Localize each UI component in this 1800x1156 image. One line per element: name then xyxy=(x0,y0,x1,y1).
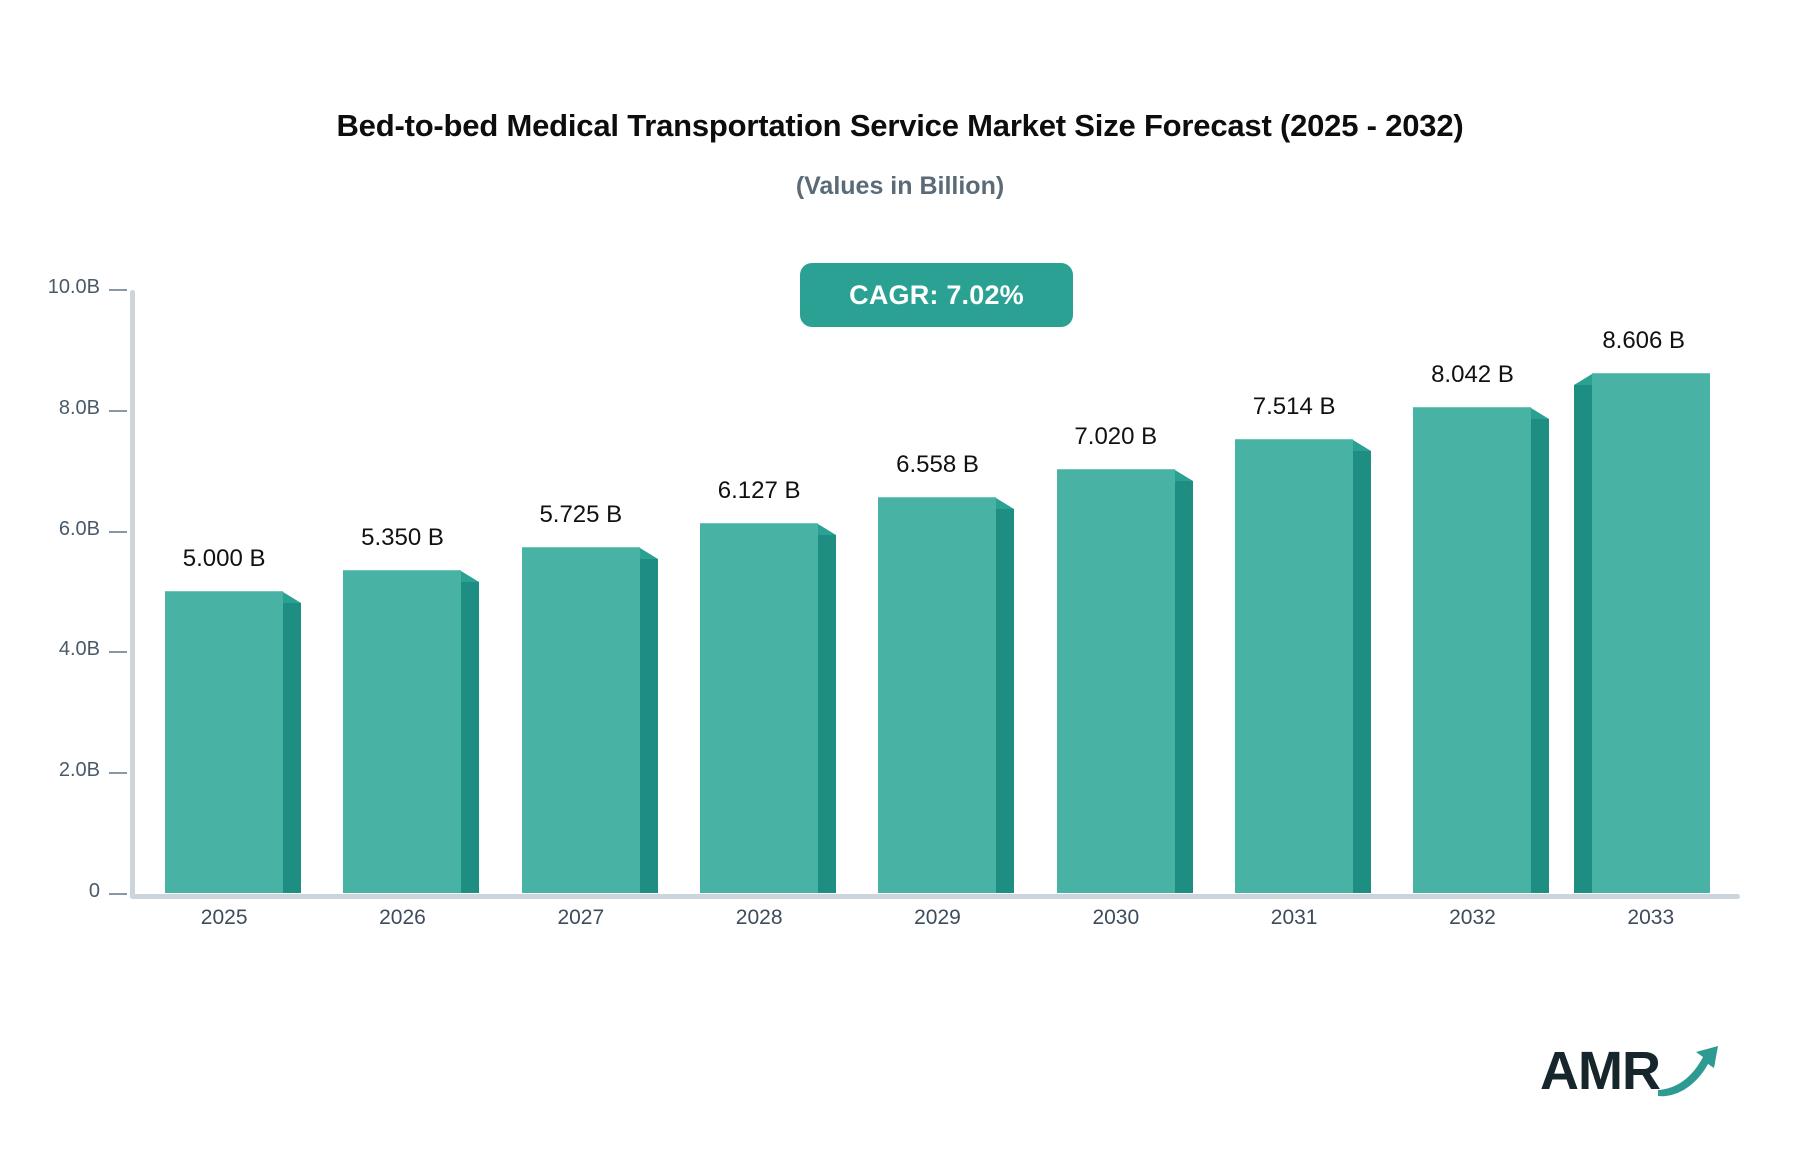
x-axis-labels: 202520262027202820292030203120322033 xyxy=(135,906,1740,930)
bar-depth-top xyxy=(818,524,836,535)
y-axis-tick-mark xyxy=(109,410,127,412)
bar-depth-top xyxy=(996,498,1014,509)
bar-value-label: 7.514 B xyxy=(1253,393,1336,421)
bar-value-label: 8.606 B xyxy=(1602,327,1685,355)
bar-depth-side xyxy=(818,535,836,893)
growth-arrow-icon xyxy=(1656,1040,1728,1102)
x-axis-label: 2029 xyxy=(848,906,1026,930)
y-axis-tick-label: 10.0B xyxy=(48,276,100,299)
bar-face[interactable] xyxy=(165,591,283,893)
y-axis-tick-mark xyxy=(109,531,127,533)
bar-depth-side xyxy=(1531,419,1549,893)
bar-face[interactable] xyxy=(522,547,640,893)
bar-face[interactable] xyxy=(1235,439,1353,893)
bar-item[interactable]: 5.350 B xyxy=(343,570,461,893)
bar-slot: 5.000 B xyxy=(135,290,313,893)
x-axis-label: 2027 xyxy=(492,906,670,930)
bar-item[interactable]: 7.514 B xyxy=(1235,439,1353,893)
chart-subtitle: (Values in Billion) xyxy=(0,172,1800,201)
bar-value-label: 7.020 B xyxy=(1074,423,1157,451)
bar-depth-side xyxy=(461,582,479,893)
bar-item[interactable]: 8.606 B xyxy=(1592,373,1710,893)
bar-item[interactable]: 5.725 B xyxy=(522,547,640,893)
bar-slot: 6.558 B xyxy=(848,290,1026,893)
y-axis-tick-label: 2.0B xyxy=(59,759,100,782)
bar-value-label: 8.042 B xyxy=(1431,361,1514,389)
bar-value-label: 5.725 B xyxy=(539,501,622,529)
bar-item[interactable]: 6.127 B xyxy=(700,523,818,893)
bar-item[interactable]: 6.558 B xyxy=(878,497,996,893)
bar-depth-top xyxy=(640,548,658,559)
bar-depth-side xyxy=(996,509,1014,893)
bar-item[interactable]: 8.042 B xyxy=(1413,407,1531,893)
bar-face[interactable] xyxy=(1413,407,1531,893)
chart-title: Bed-to-bed Medical Transportation Servic… xyxy=(0,108,1800,144)
x-axis-label: 2028 xyxy=(670,906,848,930)
bar-depth-top xyxy=(1531,408,1549,419)
bar-face[interactable] xyxy=(700,523,818,893)
y-axis-tick-mark xyxy=(109,772,127,774)
bar-depth-top xyxy=(1175,470,1193,481)
bar-depth-side xyxy=(1353,451,1371,893)
bar-face[interactable] xyxy=(878,497,996,893)
y-axis-tick-mark xyxy=(109,651,127,653)
bar-depth-top xyxy=(1574,374,1592,385)
amr-logo: AMR xyxy=(1540,1040,1728,1102)
x-axis-label: 2031 xyxy=(1205,906,1383,930)
bar-face[interactable] xyxy=(343,570,461,893)
x-axis-label: 2025 xyxy=(135,906,313,930)
bar-depth-top xyxy=(1353,440,1371,451)
bar-value-label: 6.127 B xyxy=(718,477,801,505)
y-axis-tick-label: 6.0B xyxy=(59,518,100,541)
bar-slot: 7.020 B xyxy=(1027,290,1205,893)
chart-canvas: Bed-to-bed Medical Transportation Servic… xyxy=(0,0,1800,1156)
y-axis-tick-label: 8.0B xyxy=(59,397,100,420)
bar-series: 5.000 B5.350 B5.725 B6.127 B6.558 B7.020… xyxy=(135,290,1740,893)
bar-slot: 5.350 B xyxy=(313,290,491,893)
bar-depth-side xyxy=(1175,481,1193,893)
x-axis-label: 2026 xyxy=(313,906,491,930)
bar-face[interactable] xyxy=(1592,373,1710,893)
plot-area: 02.0B4.0B6.0B8.0B10.0B 5.000 B5.350 B5.7… xyxy=(130,290,1740,898)
bar-face[interactable] xyxy=(1057,469,1175,893)
bar-value-label: 5.350 B xyxy=(361,524,444,552)
x-axis-label: 2033 xyxy=(1562,906,1740,930)
amr-logo-text: AMR xyxy=(1540,1044,1660,1098)
bar-slot: 5.725 B xyxy=(492,290,670,893)
bar-depth-side xyxy=(1574,385,1592,893)
bar-value-label: 5.000 B xyxy=(183,545,266,573)
x-axis-label: 2032 xyxy=(1383,906,1561,930)
bar-value-label: 6.558 B xyxy=(896,451,979,479)
y-axis-tick-label: 0 xyxy=(89,880,100,903)
bar-depth-side xyxy=(283,603,301,893)
bar-slot: 8.042 B xyxy=(1383,290,1561,893)
bar-slot: 8.606 B xyxy=(1562,290,1740,893)
bar-depth-top xyxy=(283,592,301,603)
bar-slot: 7.514 B xyxy=(1205,290,1383,893)
bar-slot: 6.127 B xyxy=(670,290,848,893)
x-axis-line xyxy=(130,894,1740,899)
y-axis-tick-label: 4.0B xyxy=(59,638,100,661)
bar-depth-top xyxy=(461,571,479,582)
x-axis-label: 2030 xyxy=(1027,906,1205,930)
y-axis-tick-mark xyxy=(109,289,127,291)
y-axis-tick-mark xyxy=(109,893,127,895)
bar-item[interactable]: 5.000 B xyxy=(165,591,283,893)
bar-item[interactable]: 7.020 B xyxy=(1057,469,1175,893)
bar-depth-side xyxy=(640,559,658,893)
